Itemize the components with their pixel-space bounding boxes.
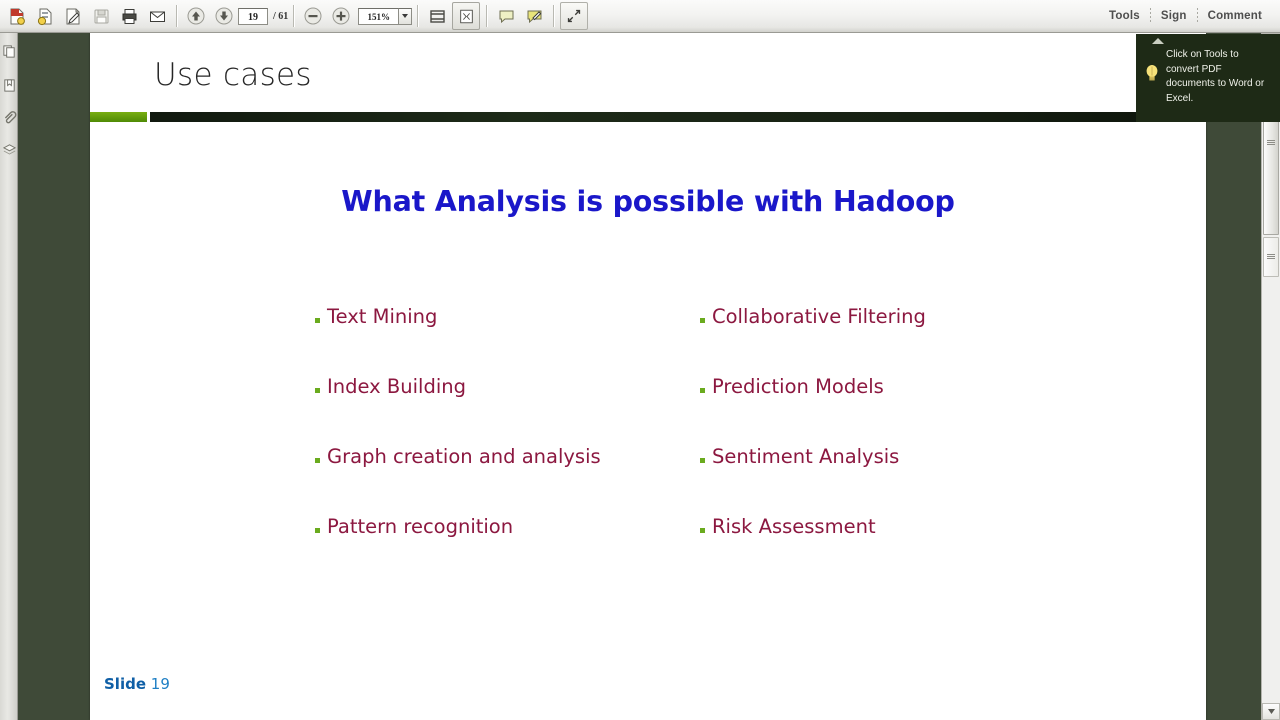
create-pdf-icon[interactable] (4, 3, 30, 29)
toolbar-right-group: Tools Sign Comment (1099, 8, 1280, 24)
toolbar-separator (176, 5, 177, 27)
bullet-dot-icon (315, 318, 320, 323)
bullet-dot-icon (315, 458, 320, 463)
bullet-column-right: Collaborative Filtering Prediction Model… (700, 305, 926, 585)
fit-width-icon[interactable] (424, 3, 450, 29)
zoom-dropdown-button[interactable] (398, 8, 412, 25)
list-item-label: Index Building (327, 375, 466, 398)
bullet-dot-icon (700, 528, 705, 533)
list-item: Prediction Models (700, 375, 926, 445)
main-toolbar: 19 / 61 151% (0, 0, 1280, 33)
scrollbar-grip-icon (1267, 254, 1275, 260)
slide-page: Use cases What Analysis is possible with… (90, 33, 1206, 720)
zoom-out-icon[interactable] (300, 3, 326, 29)
pdf-reader-window: 19 / 61 151% (0, 0, 1280, 720)
list-item-label: Text Mining (327, 305, 437, 328)
list-item-label: Sentiment Analysis (712, 445, 899, 468)
sticky-note-icon[interactable] (493, 3, 519, 29)
comment-button[interactable]: Comment (1198, 10, 1272, 22)
bullet-column-left: Text Mining Index Building Graph creatio… (315, 305, 601, 585)
edit-pdf-icon[interactable] (60, 3, 86, 29)
tools-hint-tooltip[interactable]: Click on Tools to convert PDF documents … (1136, 34, 1280, 122)
vertical-scrollbar[interactable] (1261, 33, 1280, 720)
list-item: Index Building (315, 375, 601, 445)
list-item-label: Graph creation and analysis (327, 445, 601, 468)
navigation-pane-rail (0, 33, 18, 720)
bullet-dot-icon (315, 528, 320, 533)
list-item: Collaborative Filtering (700, 305, 926, 375)
bullet-dot-icon (700, 458, 705, 463)
previous-page-icon[interactable] (183, 3, 209, 29)
list-item-label: Prediction Models (712, 375, 884, 398)
tooltip-text: Click on Tools to convert PDF documents … (1166, 48, 1272, 106)
zoom-in-icon[interactable] (328, 3, 354, 29)
scroll-down-button[interactable] (1262, 703, 1280, 720)
zoom-level-input[interactable]: 151% (358, 8, 398, 25)
bullet-dot-icon (315, 388, 320, 393)
slide-footer: Slide 19 (104, 675, 170, 693)
bullet-dot-icon (700, 388, 705, 393)
slide-footer-label: Slide (104, 675, 146, 693)
slide-title: Use cases (154, 57, 312, 93)
toolbar-separator (417, 5, 418, 27)
toolbar-separator (553, 5, 554, 27)
chevron-down-icon (402, 14, 408, 18)
slide-footer-number: 19 (151, 675, 170, 693)
page-thumbnails-icon[interactable] (0, 37, 18, 65)
list-item-label: Collaborative Filtering (712, 305, 926, 328)
expand-arrows-icon[interactable] (560, 2, 588, 30)
page-total-label: / 61 (273, 11, 288, 22)
save-icon[interactable] (88, 3, 114, 29)
scrollbar-grip-icon (1267, 140, 1275, 146)
sign-button[interactable]: Sign (1151, 10, 1197, 22)
title-rule-dark (150, 112, 1206, 122)
page-number-input[interactable]: 19 (238, 8, 268, 25)
highlight-text-icon[interactable] (521, 3, 547, 29)
attachments-icon[interactable] (0, 103, 18, 131)
lightbulb-icon (1144, 62, 1160, 86)
layers-icon[interactable] (0, 135, 18, 163)
toolbar-left-group: 19 / 61 151% (0, 2, 589, 30)
list-item-label: Risk Assessment (712, 515, 876, 538)
list-item: Text Mining (315, 305, 601, 375)
combine-files-icon[interactable] (32, 3, 58, 29)
next-page-icon[interactable] (211, 3, 237, 29)
list-item: Sentiment Analysis (700, 445, 926, 515)
document-viewport[interactable]: Use cases What Analysis is possible with… (19, 33, 1261, 720)
list-item: Graph creation and analysis (315, 445, 601, 515)
bullet-dot-icon (700, 318, 705, 323)
bookmarks-icon[interactable] (0, 71, 18, 99)
list-item-label: Pattern recognition (327, 515, 513, 538)
list-item: Risk Assessment (700, 515, 926, 585)
toolbar-separator (293, 5, 294, 27)
scrollbar-track-marker[interactable] (1263, 237, 1279, 277)
slide-headline: What Analysis is possible with Hadoop (90, 185, 1206, 218)
email-icon[interactable] (144, 3, 170, 29)
tooltip-caret-icon (1152, 38, 1164, 44)
fit-page-icon[interactable] (452, 2, 480, 30)
list-item: Pattern recognition (315, 515, 601, 585)
tools-button[interactable]: Tools (1099, 10, 1150, 22)
title-rule-green (90, 112, 147, 122)
toolbar-separator (486, 5, 487, 27)
print-icon[interactable] (116, 3, 142, 29)
